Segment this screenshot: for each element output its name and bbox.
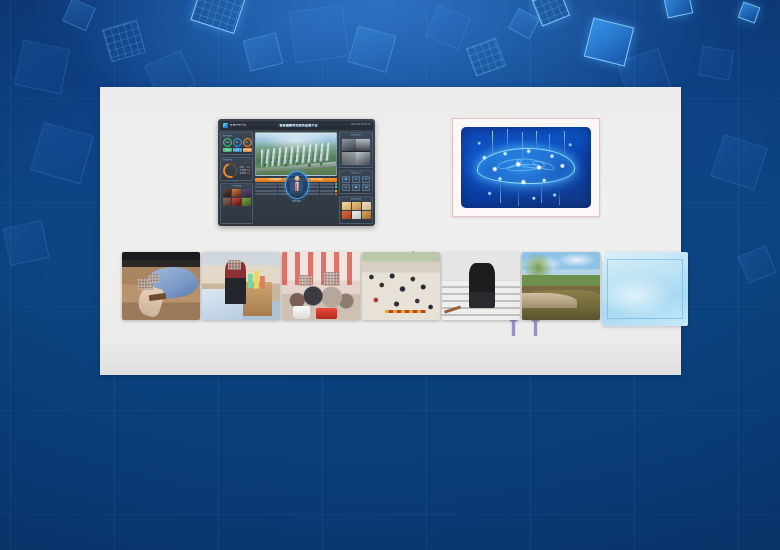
red-basin-object — [316, 308, 336, 319]
dashboard-right-column: 视频监控 功能入口 ▦ ● ♥ — [339, 132, 373, 224]
legend-row: 半自理 31% — [240, 170, 251, 172]
smart-care-command-dashboard[interactable]: 智慧养老平台 智慧健康养老服务监管平台 2023-05-18 15:42 机构概… — [218, 119, 375, 226]
health-donut-chart — [220, 161, 240, 181]
vital-sign-label: 体征监测 — [292, 200, 301, 203]
legend-row: 自理 52% — [240, 167, 251, 169]
face-blur-mask — [228, 260, 241, 270]
resident-thumbnail[interactable] — [242, 189, 251, 197]
photo-bedroom-visit[interactable] — [202, 252, 280, 320]
resident-profiles-title: 人员档案 — [223, 185, 251, 188]
meal-thumbnail[interactable] — [342, 202, 351, 210]
wheelchair-icon[interactable]: ▤ — [362, 184, 371, 191]
kpi-gauge-value: 64 — [233, 138, 242, 147]
meals-title: 膳食管理 — [342, 198, 371, 201]
health-donut-legend: 自理 52% 半自理 31% 全护理 17% — [240, 167, 251, 175]
meal-thumbnail-grid[interactable] — [342, 202, 371, 219]
photo-fall-detection[interactable] — [122, 252, 200, 320]
photo-activity-room[interactable] — [282, 252, 360, 320]
dashboard-center-column: 实时告警信息 — [255, 132, 337, 224]
bottles-on-cabinet — [247, 271, 269, 289]
face-blur-mask — [149, 274, 160, 283]
resident-thumbnail[interactable] — [242, 198, 251, 206]
willow-tree — [524, 253, 560, 288]
kpi-gauge-chip: 预警事件 — [243, 148, 252, 152]
scene-sample-photo-strip — [122, 252, 682, 330]
table-row[interactable] — [255, 183, 295, 186]
function-icon-grid[interactable]: ▦ ● ♥ ▲ ▣ ▤ — [342, 176, 371, 191]
meal-thumbnail[interactable] — [362, 202, 371, 210]
kpi-gauge-chip: 在岗护工 — [233, 148, 242, 152]
legend-value: 52% — [246, 167, 250, 169]
campus-3d-render[interactable] — [255, 132, 337, 176]
face-blur-mask — [324, 272, 340, 286]
photo-stairway-walking[interactable] — [442, 252, 520, 320]
cctv-feed[interactable] — [342, 139, 356, 152]
cctv-panel[interactable]: 视频监控 — [339, 132, 373, 168]
dashboard-title: 智慧健康养老服务监管平台 — [248, 124, 349, 127]
cctv-title: 视频监控 — [341, 134, 371, 137]
meals-panel[interactable]: 膳食管理 — [339, 196, 373, 224]
kpi-gauge-staff[interactable]: 64 在岗护工 — [233, 138, 242, 152]
resident-thumbnail[interactable] — [223, 198, 232, 206]
dashboard-body: 机构概况 128 入住老人 64 在岗护工 37 — [220, 130, 373, 224]
dashboard-header: 智慧养老平台 智慧健康养老服务监管平台 2023-05-18 15:42 — [220, 121, 373, 130]
brain-neural-nodes — [461, 127, 591, 208]
cctv-grid[interactable] — [341, 138, 371, 166]
campus-trees — [259, 158, 333, 168]
dashboard-timestamp: 2023-05-18 15:42 — [351, 124, 370, 126]
table-row[interactable] — [297, 186, 337, 189]
lake-shore-path — [522, 293, 577, 308]
slide-canvas: 智慧养老平台 智慧健康养老服务监管平台 2023-05-18 15:42 机构概… — [0, 0, 780, 550]
resident-thumbnail[interactable] — [232, 189, 241, 197]
kpi-gauges-title: 机构概况 — [223, 135, 251, 138]
digital-brain-neural-network-image — [461, 127, 591, 208]
legend-label: 全护理 — [240, 173, 246, 175]
table-row[interactable] — [255, 189, 295, 192]
legend-value: 17% — [246, 173, 250, 175]
diamond-logo-icon — [223, 123, 228, 128]
resident-thumbnail[interactable] — [232, 198, 241, 206]
white-content-card: 智慧养老平台 智慧健康养老服务监管平台 2023-05-18 15:42 机构概… — [100, 87, 681, 375]
table-row[interactable] — [297, 193, 337, 196]
inner-border-line — [607, 259, 683, 319]
cctv-feed[interactable] — [342, 152, 356, 165]
meal-thumbnail[interactable] — [352, 202, 361, 210]
kpi-gauge-chip: 入住老人 — [223, 148, 232, 152]
resident-thumbnail-grid[interactable] — [223, 189, 251, 206]
meal-thumbnail[interactable] — [362, 211, 371, 219]
photo-abstract-blue-texture[interactable] — [602, 252, 688, 326]
bed-icon[interactable]: ▦ — [342, 176, 351, 183]
dashboard-tables-row: 实时告警信息 — [255, 178, 337, 195]
resident-thumbnail[interactable] — [223, 189, 232, 197]
photo-courtyard-crowd[interactable] — [362, 252, 440, 320]
health-distribution-panel[interactable]: 健康分布 自理 52% 半自理 31% — [220, 157, 253, 181]
kpi-gauges-panel[interactable]: 机构概况 128 入住老人 64 在岗护工 37 — [220, 132, 253, 155]
face-blur-mask — [299, 275, 311, 286]
kpi-gauge-residents[interactable]: 128 入住老人 — [223, 138, 232, 152]
alarm-table-header: 实时告警信息 — [255, 178, 295, 182]
alarm-table[interactable]: 实时告警信息 — [255, 178, 295, 195]
chart-icon[interactable]: ▣ — [352, 184, 361, 191]
photo-lakeside-park[interactable] — [522, 252, 600, 320]
bell-icon[interactable]: ▲ — [342, 184, 351, 191]
white-tub-object — [293, 306, 310, 318]
walking-person — [469, 263, 496, 308]
meal-thumbnail[interactable] — [352, 211, 361, 219]
workorder-table[interactable]: 服务工单统计 — [297, 178, 337, 195]
resident-profiles-panel[interactable]: 人员档案 — [220, 183, 253, 224]
health-donut-wrap: 自理 52% 半自理 31% 全护理 17% — [223, 163, 251, 178]
legend-label: 自理 — [240, 167, 244, 169]
table-row[interactable] — [255, 186, 295, 189]
heart-icon[interactable]: ♥ — [362, 176, 371, 183]
cctv-feed[interactable] — [356, 152, 370, 165]
meal-thumbnail[interactable] — [342, 211, 351, 219]
kpi-gauge-alerts[interactable]: 37 预警事件 — [243, 138, 252, 152]
pill-icon[interactable]: ● — [352, 176, 361, 183]
dashboard-left-column: 机构概况 128 入住老人 64 在岗护工 37 — [220, 132, 253, 224]
workorder-table-header: 服务工单统计 — [297, 178, 337, 182]
cctv-feed[interactable] — [356, 139, 370, 152]
kpi-gauge-row: 128 入住老人 64 在岗护工 37 预警事件 — [223, 138, 251, 152]
dashboard-brand-text: 智慧养老平台 — [230, 124, 246, 127]
function-entries-title: 功能入口 — [342, 172, 371, 175]
ground-barrier — [385, 310, 426, 313]
kpi-gauge-value: 128 — [223, 138, 232, 147]
legend-row: 全护理 17% — [240, 173, 251, 175]
ai-brain-frame[interactable] — [452, 118, 600, 217]
table-row[interactable] — [255, 193, 295, 196]
table-row[interactable] — [297, 189, 337, 192]
table-row[interactable] — [297, 183, 337, 186]
health-distribution-title: 健康分布 — [223, 159, 251, 162]
legend-value: 31% — [246, 170, 250, 172]
function-entries-panel[interactable]: 功能入口 ▦ ● ♥ ▲ ▣ ▤ — [339, 170, 373, 194]
kpi-gauge-value: 37 — [243, 138, 252, 147]
legend-label: 半自理 — [240, 170, 246, 172]
